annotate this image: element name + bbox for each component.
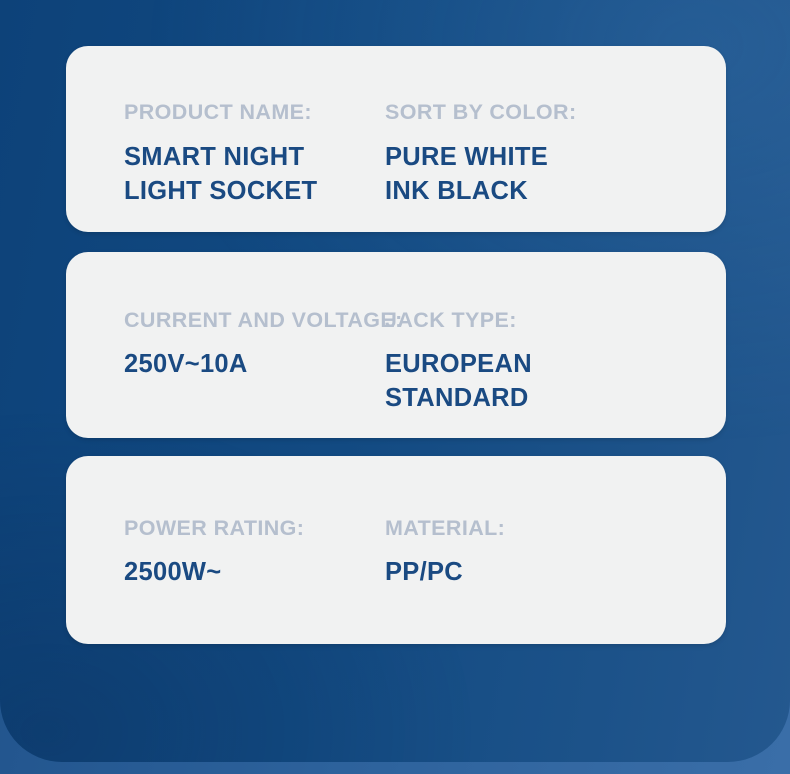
spec-label-jack-type-cell: JACK TYPE: <box>385 308 726 332</box>
spec-label-material-cell: MATERIAL: <box>385 516 726 540</box>
spec-card-power-jack: CURRENT AND VOLTAGE: JACK TYPE: 250V~10A… <box>66 252 726 438</box>
spec-label-power-rating-cell: POWER RATING: <box>66 516 385 540</box>
spec-value-power-rating: 2500W~ <box>124 558 222 586</box>
spec-value-power-rating-cell: 2500W~ <box>66 556 385 590</box>
spec-value-material-cell: PP/PC <box>385 556 726 590</box>
spec-card-label-row: CURRENT AND VOLTAGE: JACK TYPE: <box>66 308 726 332</box>
spec-label-jack-type: JACK TYPE: <box>385 308 517 332</box>
spec-value-product-name: SMART NIGHT LIGHT SOCKET <box>124 143 317 205</box>
spec-value-sort-by-color: PURE WHITE INK BLACK <box>385 143 548 205</box>
spec-card-label-row: POWER RATING: MATERIAL: <box>66 516 726 540</box>
spec-card-list: PRODUCT NAME: SORT BY COLOR: SMART NIGHT… <box>66 46 726 644</box>
spec-value-jack-type-cell: EUROPEAN STANDARD <box>385 348 726 416</box>
spec-card-value-row: 2500W~ PP/PC <box>66 556 726 590</box>
spec-label-sort-by-color: SORT BY COLOR: <box>385 100 577 124</box>
spec-label-product-name-cell: PRODUCT NAME: <box>66 100 385 124</box>
spec-value-sort-by-color-cell: PURE WHITE INK BLACK <box>385 141 726 209</box>
spec-card-value-row: 250V~10A EUROPEAN STANDARD <box>66 348 726 416</box>
spec-label-current-and-voltage: CURRENT AND VOLTAGE: <box>124 308 403 332</box>
spec-label-product-name: PRODUCT NAME: <box>124 100 312 124</box>
spec-value-jack-type: EUROPEAN STANDARD <box>385 350 532 412</box>
spec-card-label-row: PRODUCT NAME: SORT BY COLOR: <box>66 100 726 124</box>
spec-card-product-color: PRODUCT NAME: SORT BY COLOR: SMART NIGHT… <box>66 46 726 232</box>
product-spec-panel: PRODUCT NAME: SORT BY COLOR: SMART NIGHT… <box>0 0 790 774</box>
spec-label-material: MATERIAL: <box>385 516 505 540</box>
spec-value-current-and-voltage: 250V~10A <box>124 350 248 378</box>
spec-card-value-row: SMART NIGHT LIGHT SOCKET PURE WHITE INK … <box>66 141 726 209</box>
spec-value-material: PP/PC <box>385 558 463 586</box>
spec-value-current-voltage-cell: 250V~10A <box>66 348 385 416</box>
spec-label-sort-by-color-cell: SORT BY COLOR: <box>385 100 726 124</box>
spec-label-current-voltage-cell: CURRENT AND VOLTAGE: <box>66 308 385 332</box>
spec-value-product-name-cell: SMART NIGHT LIGHT SOCKET <box>66 141 385 209</box>
spec-label-power-rating: POWER RATING: <box>124 516 304 540</box>
spec-card-rating-material: POWER RATING: MATERIAL: 2500W~ PP/PC <box>66 456 726 644</box>
